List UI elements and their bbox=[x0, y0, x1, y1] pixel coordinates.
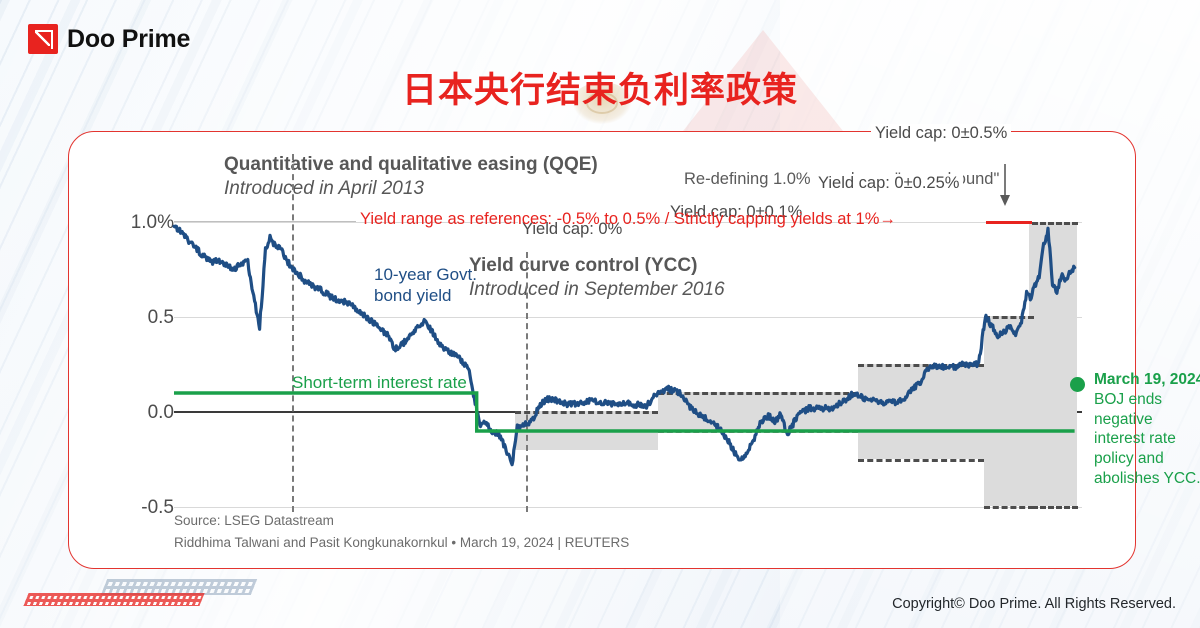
event-annotation: March 19, 2024 BOJ ends negative interes… bbox=[1094, 370, 1200, 489]
chart-card: Quantitative and qualitative easing (QQE… bbox=[68, 131, 1136, 569]
brand-logo[interactable]: Doo Prime bbox=[28, 24, 190, 54]
ytick-label-0.5: 0.5 bbox=[148, 307, 174, 329]
series-label-rate: Short-term interest rate bbox=[292, 373, 467, 393]
series-label-bond: 10-year Govt. bond yield bbox=[374, 264, 477, 307]
annotation-red-note-text: Yield range as references: -0.5% to 0.5%… bbox=[360, 210, 879, 228]
series-label-bond-line1: 10-year Govt. bbox=[374, 264, 477, 285]
event-date: March 19, 2024 bbox=[1094, 371, 1200, 388]
footer-decoration bbox=[26, 576, 256, 606]
copyright-text: Copyright© Doo Prime. All Rights Reserve… bbox=[892, 596, 1176, 612]
annotation-red-leader-line bbox=[174, 221, 356, 222]
annotation-red-note-arrow: → bbox=[879, 210, 896, 228]
cap-label-0.25: Yield cap: 0±0.25% bbox=[814, 174, 963, 193]
annotation-red-note: Yield range as references: -0.5% to 0.5%… bbox=[360, 210, 896, 229]
ytick-label--0.5: -0.5 bbox=[141, 497, 174, 519]
red-cap-marker bbox=[986, 221, 1032, 224]
annotation-qqe-title: Quantitative and qualitative easing (QQE… bbox=[224, 154, 598, 176]
page-title: 日本央行结束负利率政策 bbox=[0, 62, 1200, 113]
credit-text: Riddhima Talwani and Pasit Kongkunakornk… bbox=[174, 535, 629, 550]
event-marker-dot bbox=[1070, 377, 1085, 392]
chart-footnote: Source: LSEG Datastream Riddhima Talwani… bbox=[174, 513, 629, 550]
footer-decoration-red bbox=[23, 593, 204, 606]
down-arrow-icon bbox=[996, 164, 1014, 208]
doo-prime-logo-icon bbox=[28, 24, 58, 54]
ytick-label-0.0: 0.0 bbox=[148, 402, 174, 424]
event-description: BOJ ends negative interest rate policy a… bbox=[1094, 390, 1200, 489]
source-text: Source: LSEG Datastream bbox=[174, 513, 629, 528]
annotation-qqe-subtitle: Introduced in April 2013 bbox=[224, 178, 424, 200]
brand-name: Doo Prime bbox=[67, 25, 190, 54]
ytick-label-1.0: 1.0% bbox=[131, 212, 174, 234]
series-label-bond-line2: bond yield bbox=[374, 285, 477, 306]
cap-label-0.5: Yield cap: 0±0.5% bbox=[871, 124, 1011, 143]
